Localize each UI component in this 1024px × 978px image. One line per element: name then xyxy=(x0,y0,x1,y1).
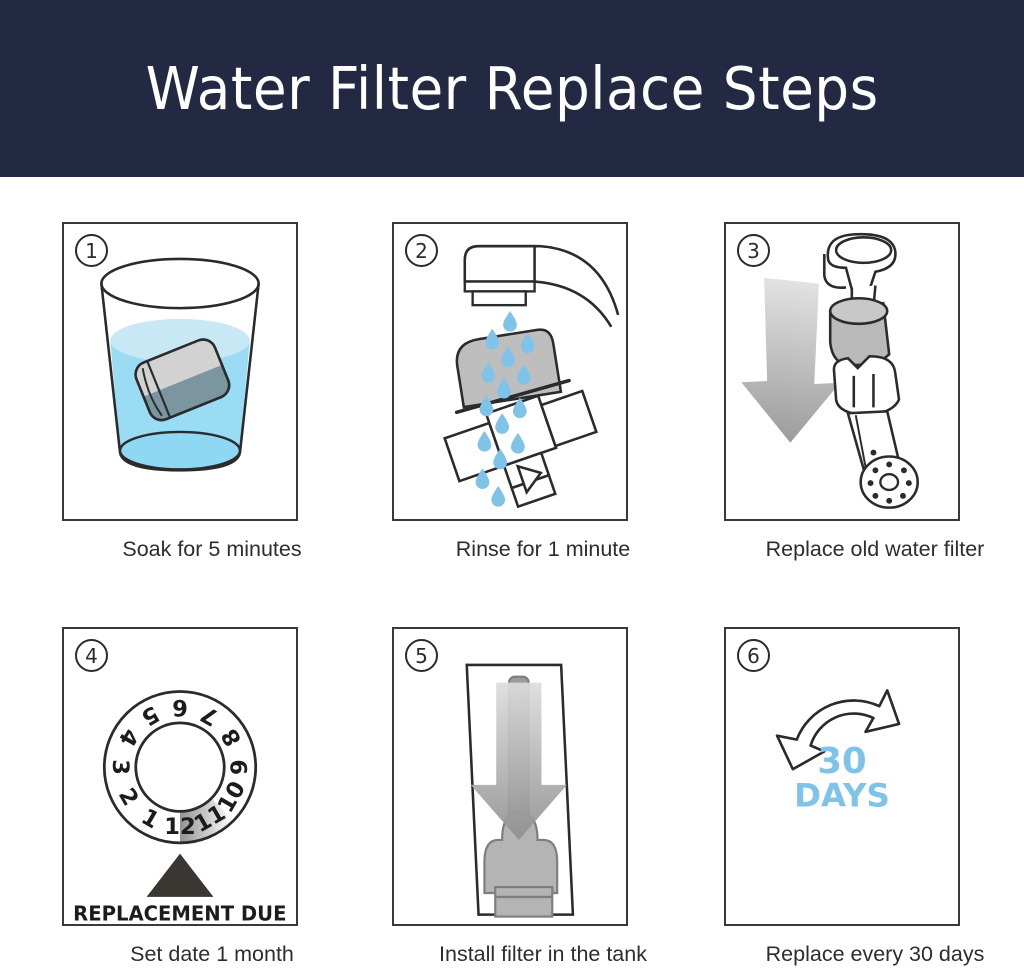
illustration-rinse-faucet xyxy=(394,224,626,519)
illustration-soak-glass xyxy=(64,224,296,519)
illustration-install-in-tank xyxy=(394,629,626,924)
step-number-badge: 1 xyxy=(75,234,108,267)
step-caption: Replace every 30 days xyxy=(724,942,1024,967)
step-cell-3: 3 xyxy=(706,222,1024,562)
step-panel-3: 3 xyxy=(724,222,960,521)
dial-number: 9 xyxy=(227,759,253,775)
badge-line-2: DAYS xyxy=(794,776,890,814)
step-caption: Soak for 5 minutes xyxy=(62,537,362,562)
replacement-due-label: REPLACEMENT DUE xyxy=(73,901,286,924)
step-number-badge: 5 xyxy=(405,639,438,672)
step-panel-1: 1 xyxy=(62,222,298,521)
step-caption: Install filter in the tank xyxy=(392,942,694,967)
poster-root: Water Filter Replace Steps 1 xyxy=(0,0,1024,978)
step-caption: Replace old water filter xyxy=(724,537,1024,562)
step-panel-2: 2 xyxy=(392,222,628,521)
dial-number: 5 xyxy=(137,700,164,730)
step-panel-5: 5 xyxy=(392,627,628,926)
pointer-triangle-icon xyxy=(147,854,214,897)
dial-number: 3 xyxy=(107,759,133,775)
step-number-badge: 3 xyxy=(737,234,770,267)
down-arrow-icon xyxy=(471,683,567,840)
down-arrow-icon xyxy=(736,277,851,448)
page-title: Water Filter Replace Steps xyxy=(145,54,878,123)
dial-number: 12 xyxy=(164,814,195,840)
step-number-badge: 2 xyxy=(405,234,438,267)
steps-grid: 1 xyxy=(0,177,1024,978)
dial-number: 1 xyxy=(137,804,164,834)
step-caption: Set date 1 month xyxy=(62,942,362,967)
illustration-month-dial: 123456789101112 REPLACEMENT DUE xyxy=(64,629,296,924)
page-header: Water Filter Replace Steps xyxy=(0,0,1024,177)
step-cell-1: 1 xyxy=(42,222,362,562)
dial-number: 2 xyxy=(113,784,143,811)
illustration-cycle-30-days: 30 DAYS xyxy=(726,629,958,924)
step-cell-2: 2 xyxy=(374,222,694,562)
step-cell-5: 5 xyxy=(374,627,694,967)
illustration-replace-old-filter xyxy=(726,224,958,519)
step-number-badge: 6 xyxy=(737,639,770,672)
step-number-badge: 4 xyxy=(75,639,108,672)
dial-number: 6 xyxy=(172,694,188,720)
step-cell-6: 6 30 DAYS Replace every 30 days xyxy=(706,627,1024,967)
step-panel-4: 4 123456789101112 xyxy=(62,627,298,926)
dial-number: 4 xyxy=(113,724,143,751)
dial-number: 7 xyxy=(197,700,224,730)
step-panel-6: 6 30 DAYS xyxy=(724,627,960,926)
dial-number: 8 xyxy=(217,724,247,751)
step-cell-4: 4 123456789101112 xyxy=(42,627,362,967)
step-caption: Rinse for 1 minute xyxy=(392,537,694,562)
